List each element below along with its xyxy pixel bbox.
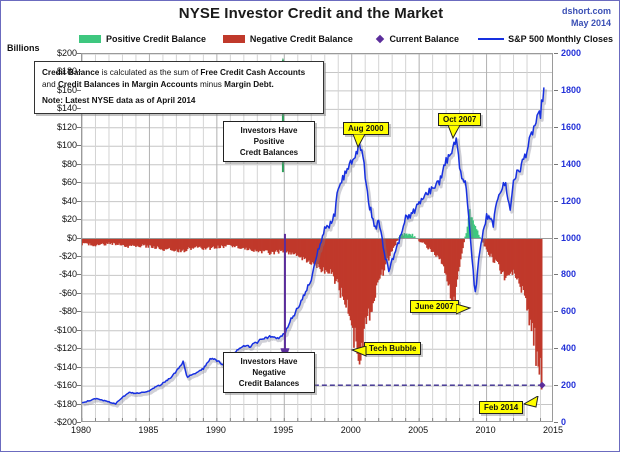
- y-tick-mark-left: [77, 201, 81, 202]
- y-tick-mark-right: [554, 422, 558, 423]
- callout-tail-june-2007: [456, 304, 474, 318]
- chart-title: NYSE Investor Credit and the Market: [1, 5, 620, 22]
- y-tick-left: -$140: [29, 362, 77, 372]
- y-tick-right: 600: [561, 306, 601, 316]
- x-tick: 1985: [138, 425, 158, 435]
- y-tick-mark-left: [77, 238, 81, 239]
- y-tick-right: 1600: [561, 122, 601, 132]
- y-tick-mark-left: [77, 256, 81, 257]
- y-tick-left: $20: [29, 214, 77, 224]
- callout-line: Credt Balances: [229, 147, 309, 158]
- y-tick-left: $140: [29, 103, 77, 113]
- y-tick-left: -$120: [29, 343, 77, 353]
- y-tick-right: 1400: [561, 159, 601, 169]
- note-text: is calculated as the sum of: [99, 68, 200, 77]
- x-tick: 1995: [273, 425, 293, 435]
- y-tick-left: -$40: [29, 269, 77, 279]
- note-text: minus: [198, 80, 224, 89]
- callout-june-2007: June 2007: [410, 300, 459, 313]
- y-tick-mark-left: [77, 404, 81, 405]
- callout-tail-feb-2014: [524, 396, 544, 412]
- legend-label: Positive Credit Balance: [106, 34, 206, 44]
- y-tick-left: $120: [29, 122, 77, 132]
- y-tick-mark-left: [77, 182, 81, 183]
- diamond-marker-icon: [376, 35, 384, 43]
- y-tick-mark-right: [554, 90, 558, 91]
- y-tick-mark-left: [77, 422, 81, 423]
- legend-item-sp500: S&P 500 Monthly Closes: [478, 34, 613, 44]
- y-tick-left: -$60: [29, 288, 77, 298]
- y-tick-mark-left: [77, 127, 81, 128]
- callout-positive-balances: Investors Have Positive Credt Balances: [223, 121, 315, 162]
- y-tick-mark-left: [77, 90, 81, 91]
- y-tick-left: $0: [29, 233, 77, 243]
- y-tick-left: $180: [29, 66, 77, 76]
- brand-date: May 2014: [562, 17, 611, 29]
- callout-line: Negative: [229, 367, 309, 378]
- y-tick-right: 1800: [561, 85, 601, 95]
- y-tick-mark-left: [77, 274, 81, 275]
- note-box: Credit Balance is calculated as the sum …: [34, 61, 324, 114]
- x-tick: 2005: [408, 425, 428, 435]
- callout-line: Investors Have: [229, 125, 309, 136]
- y-tick-right: 0: [561, 417, 601, 427]
- y-tick-mark-right: [554, 164, 558, 165]
- note-term: Free Credit Cash Accounts: [200, 68, 305, 77]
- y-tick-mark-right: [554, 311, 558, 312]
- x-tick: 1980: [71, 425, 91, 435]
- line-marker-icon: [478, 38, 504, 40]
- y-tick-mark-left: [77, 348, 81, 349]
- y-tick-right: 2000: [561, 48, 601, 58]
- brand-credit: dshort.com May 2014: [562, 5, 611, 29]
- y-tick-right: 1200: [561, 196, 601, 206]
- note-line-3: Note: Latest NYSE data as of April 2014: [42, 95, 316, 107]
- y-tick-mark-right: [554, 127, 558, 128]
- y-tick-mark-left: [77, 108, 81, 109]
- y-tick-left: -$100: [29, 325, 77, 335]
- callout-tech-bubble: Tech Bubble: [364, 342, 421, 355]
- y-tick-mark-left: [77, 293, 81, 294]
- y-tick-left: -$160: [29, 380, 77, 390]
- legend-label: S&P 500 Monthly Closes: [508, 34, 613, 44]
- y-tick-left: $160: [29, 85, 77, 95]
- y-tick-left: -$80: [29, 306, 77, 316]
- legend-label: Negative Credit Balance: [250, 34, 353, 44]
- y-tick-left: $200: [29, 48, 77, 58]
- y-tick-right: 400: [561, 343, 601, 353]
- note-line-2: and Credit Balances in Margin Accounts m…: [42, 79, 316, 91]
- chart-root: NYSE Investor Credit and the Market dsho…: [0, 0, 620, 452]
- legend-label: Current Balance: [389, 34, 459, 44]
- chart-legend: Positive Credit Balance Negative Credit …: [79, 32, 613, 46]
- y-tick-mark-right: [554, 53, 558, 54]
- y-tick-mark-left: [77, 71, 81, 72]
- y-tick-mark-left: [77, 145, 81, 146]
- legend-item-negative-credit-balance: Negative Credit Balance: [223, 34, 378, 44]
- x-tick: 2015: [543, 425, 563, 435]
- y-tick-left: -$200: [29, 417, 77, 427]
- y-tick-right: 800: [561, 269, 601, 279]
- y-tick-mark-right: [554, 274, 558, 275]
- note-term: Credit Balances in Margin Accounts: [58, 80, 198, 89]
- legend-item-current-balance: Current Balance: [377, 34, 478, 44]
- callout-line: Credit Balances: [229, 378, 309, 389]
- y-tick-mark-left: [77, 164, 81, 165]
- legend-swatch-icon: [223, 35, 245, 43]
- y-tick-right: 1000: [561, 233, 601, 243]
- callout-line: Positive: [229, 136, 309, 147]
- y-tick-mark-left: [77, 385, 81, 386]
- y-tick-mark-left: [77, 53, 81, 54]
- y-tick-left: $100: [29, 140, 77, 150]
- y-tick-mark-right: [554, 348, 558, 349]
- y-tick-mark-right: [554, 385, 558, 386]
- y-tick-left: $40: [29, 196, 77, 206]
- callout-feb-2014: Feb 2014: [479, 401, 523, 414]
- brand-site: dshort.com: [562, 5, 611, 17]
- callout-negative-balances: Investors Have Negative Credit Balances: [223, 352, 315, 393]
- y-tick-left: $60: [29, 177, 77, 187]
- note-term: Margin Debt.: [224, 80, 274, 89]
- y-tick-left: -$180: [29, 399, 77, 409]
- y-tick-left: $80: [29, 159, 77, 169]
- callout-tail-aug-2000: [353, 134, 369, 150]
- callout-tail-tech-bubble: [350, 346, 368, 360]
- y-tick-mark-right: [554, 201, 558, 202]
- legend-swatch-icon: [79, 35, 101, 43]
- y-tick-mark-left: [77, 330, 81, 331]
- callout-line: Investors Have: [229, 356, 309, 367]
- x-tick: 2000: [341, 425, 361, 435]
- y-tick-left: -$20: [29, 251, 77, 261]
- y-tick-mark-left: [77, 367, 81, 368]
- y-tick-mark-right: [554, 238, 558, 239]
- legend-item-positive-credit-balance: Positive Credit Balance: [79, 34, 223, 44]
- y-tick-mark-left: [77, 219, 81, 220]
- note-line-1: Credit Balance is calculated as the sum …: [42, 67, 316, 79]
- y-tick-mark-left: [77, 311, 81, 312]
- x-tick: 1990: [206, 425, 226, 435]
- x-tick: 2010: [476, 425, 496, 435]
- callout-tail-oct-2007: [448, 125, 464, 141]
- y-tick-right: 200: [561, 380, 601, 390]
